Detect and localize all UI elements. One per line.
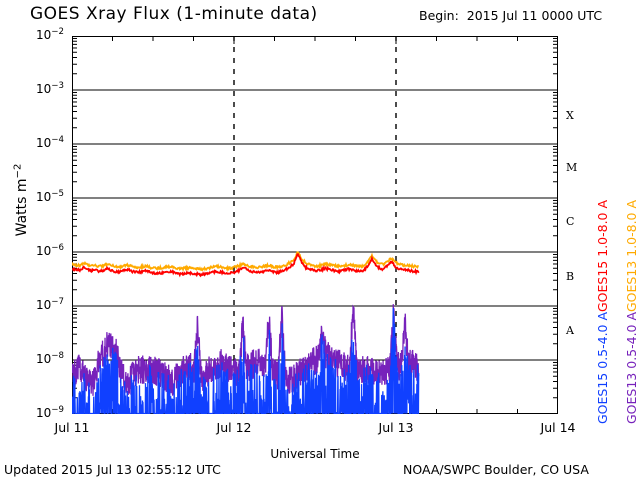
- y-tick-label-1e-7: 10−7: [24, 298, 64, 312]
- begin-label: Begin:: [419, 8, 459, 23]
- y-axis-label-text: Watts m: [14, 178, 30, 236]
- gridlines: [72, 90, 558, 360]
- flare-class-B: B: [566, 270, 580, 283]
- y-tick-label-1e-8: 10−8: [24, 352, 64, 366]
- legend-goes13-1-0-8-0-a: GOES13 1.0-8.0 A: [624, 200, 639, 312]
- x-tick-label-jul-12: Jul 12: [194, 420, 274, 435]
- flare-class-A: A: [566, 324, 580, 337]
- legend-goes15-0-5-4-0-a: GOES15 0.5-4.0 A: [595, 312, 610, 424]
- y-tick-label-1e-9: 10−9: [24, 406, 64, 420]
- legend-goes13-0-5-4-0-a: GOES13 0.5-4.0 A: [624, 312, 639, 424]
- y-tick-label-1e-4: 10−4: [24, 136, 64, 150]
- y-axis-label-exponent: −2: [12, 164, 23, 179]
- x-tick-label-jul-11: Jul 11: [32, 420, 112, 435]
- y-tick-label-1e-5: 10−5: [24, 190, 64, 204]
- flare-class-X: X: [566, 109, 580, 122]
- y-tick-label-1e-2: 10−2: [24, 28, 64, 42]
- flare-class-M: M: [566, 161, 580, 174]
- flare-class-C: C: [566, 215, 580, 228]
- x-axis-label: Universal Time: [240, 447, 390, 461]
- chart-canvas: [72, 36, 558, 414]
- updated-timestamp: Updated 2015 Jul 13 02:55:12 UTC: [4, 462, 221, 477]
- x-tick-label-jul-13: Jul 13: [356, 420, 436, 435]
- agency-credit: NOAA/SWPC Boulder, CO USA: [403, 462, 589, 477]
- page-title: GOES Xray Flux (1-minute data): [30, 4, 318, 24]
- y-tick-label-1e-3: 10−3: [24, 82, 64, 96]
- x-tick-label-jul-14: Jul 14: [518, 420, 598, 435]
- begin-value: 2015 Jul 11 0000 UTC: [467, 8, 602, 23]
- begin-time-label: Begin: 2015 Jul 11 0000 UTC: [419, 8, 602, 23]
- legend-goes15-1-0-8-0-a: GOES15 1.0-8.0 A: [595, 200, 610, 312]
- y-tick-label-1e-6: 10−6: [24, 244, 64, 258]
